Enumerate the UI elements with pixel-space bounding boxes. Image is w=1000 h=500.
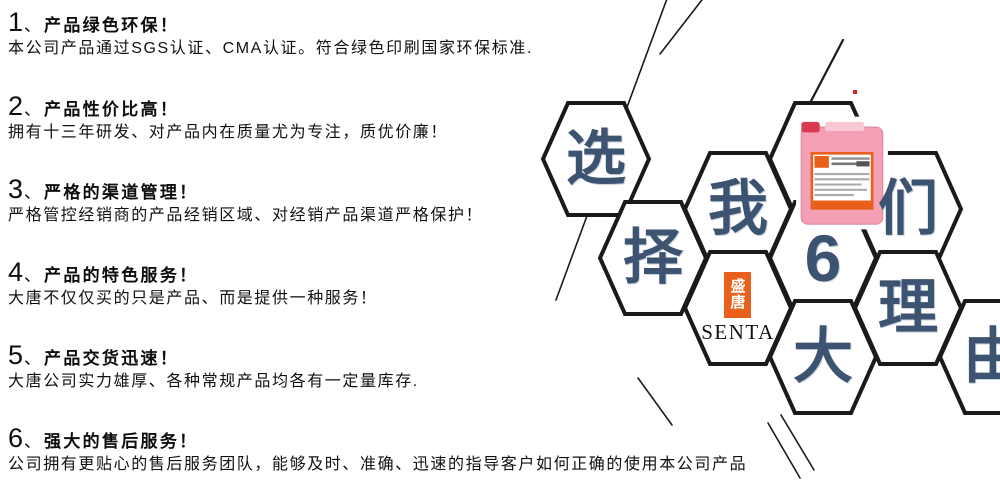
- poster-canvas: 1 、 产品绿色环保！ 本公司产品通过SGS认证、CMA认证。符合绿色印刷国家环…: [0, 0, 1000, 500]
- hex-character: 选: [566, 129, 626, 189]
- hex-character: 我: [708, 179, 768, 239]
- product-photo: [786, 114, 860, 204]
- hex-character: 择: [623, 228, 683, 288]
- hex-character: 大: [793, 327, 853, 387]
- hex-character: 6: [805, 225, 842, 291]
- hex-you: 由: [937, 298, 1000, 416]
- brand-wordmark: SENTA: [701, 320, 774, 345]
- hex-character: 们: [878, 179, 938, 239]
- hex-character: 由: [963, 327, 1000, 387]
- brand-logo: 盛唐SENTA: [701, 272, 774, 345]
- honeycomb-graphic: 选择我6们盛唐SENTA大理由: [0, 0, 1000, 500]
- hex-character: 理: [878, 278, 938, 338]
- brand-seal-char-bottom: 唐: [730, 295, 745, 310]
- brand-seal-icon: 盛唐: [724, 272, 751, 318]
